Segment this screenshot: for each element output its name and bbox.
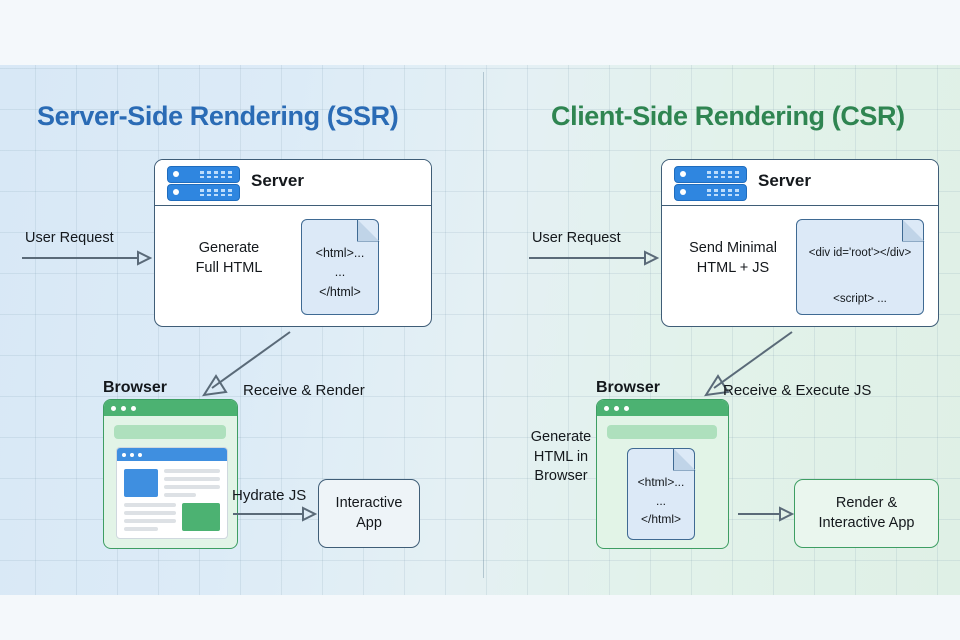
ssr-server-action-label: Generate Full HTML	[169, 239, 289, 278]
csr-generate-html-label: Generate HTML in Browser	[518, 428, 604, 487]
page-hero-block	[124, 469, 158, 497]
browser-url-bar	[607, 425, 717, 439]
diagram-canvas: Server-Side Rendering (SSR) Client-Side …	[0, 0, 960, 640]
browser-titlebar	[104, 400, 237, 416]
csr-document-text: <div id='root'></div> <script> ...	[797, 242, 923, 311]
ssr-server-title: Server	[251, 171, 304, 191]
ssr-rendered-page	[116, 447, 228, 539]
ssr-server-body: Generate Full HTML <html>... ... </html>	[155, 206, 431, 327]
server-rack-icon	[167, 184, 240, 201]
ssr-browser-window	[103, 399, 238, 549]
server-rack-icon	[674, 184, 747, 201]
ssr-document-text: <html>... ... </html>	[302, 244, 378, 302]
server-rack-icon	[167, 166, 240, 183]
ssr-server-card: Server Generate Full HTML <html>... ... …	[154, 159, 432, 327]
csr-server-card: Server Send Minimal HTML + JS <div id='r…	[661, 159, 939, 327]
csr-receive-execute-label: Receive & Execute JS	[723, 381, 871, 401]
browser-titlebar	[597, 400, 728, 416]
panel-divider	[483, 72, 484, 578]
csr-minimal-html-document: <div id='root'></div> <script> ...	[796, 219, 924, 315]
inner-page-titlebar	[117, 448, 227, 461]
ssr-user-request-arrow	[22, 250, 152, 268]
ssr-full-html-document: <html>... ... </html>	[301, 219, 379, 315]
page-fold-icon	[902, 219, 925, 242]
csr-server-body: Send Minimal HTML + JS <div id='root'></…	[662, 206, 938, 327]
ssr-interactive-app-box: Interactive App	[318, 479, 420, 548]
csr-render-arrow	[738, 506, 794, 524]
ssr-hydrate-arrow	[233, 506, 317, 524]
ssr-user-request-label: User Request	[25, 229, 114, 249]
csr-generated-html-document: <html>... ... </html>	[627, 448, 695, 540]
csr-user-request-arrow	[529, 250, 659, 268]
csr-browser-document-text: <html>... ... </html>	[628, 473, 694, 529]
csr-render-interactive-app-box: Render & Interactive App	[794, 479, 939, 548]
csr-server-title: Server	[758, 171, 811, 191]
page-media-block	[182, 503, 220, 531]
csr-server-header: Server	[662, 160, 938, 206]
ssr-section-title: Server-Side Rendering (SSR)	[37, 101, 398, 132]
server-rack-icon	[674, 166, 747, 183]
csr-browser-label: Browser	[596, 379, 660, 397]
browser-url-bar	[114, 425, 226, 439]
csr-server-action-label: Send Minimal HTML + JS	[670, 239, 796, 278]
ssr-hydrate-label: Hydrate JS	[232, 486, 306, 506]
csr-browser-window: <html>... ... </html>	[596, 399, 729, 549]
page-fold-icon	[673, 448, 696, 471]
ssr-browser-label: Browser	[103, 379, 167, 397]
csr-user-request-label: User Request	[532, 229, 621, 249]
csr-section-title: Client-Side Rendering (CSR)	[551, 101, 905, 132]
page-fold-icon	[357, 219, 380, 242]
ssr-server-header: Server	[155, 160, 431, 206]
ssr-receive-render-label: Receive & Render	[243, 381, 365, 401]
